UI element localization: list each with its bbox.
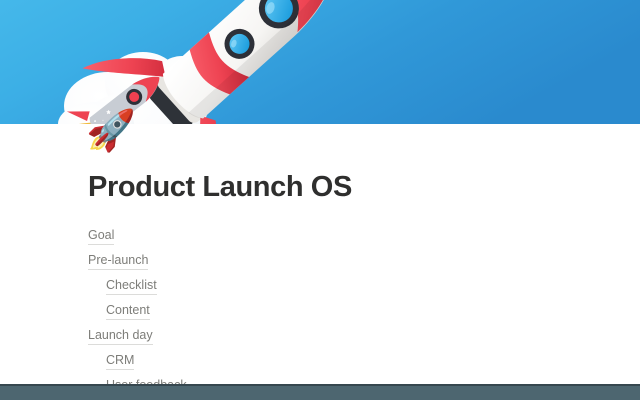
toc-item-launch-day-crm[interactable]: CRM bbox=[88, 351, 640, 366]
page-cover-banner[interactable] bbox=[0, 0, 640, 124]
rocket-emoji-icon[interactable]: 🚀 bbox=[86, 108, 132, 154]
toc-item-launch-day[interactable]: Launch day bbox=[88, 326, 640, 341]
toc-link[interactable]: CRM bbox=[106, 353, 134, 370]
page-title[interactable]: Product Launch OS bbox=[88, 170, 640, 204]
toc-link[interactable]: Launch day bbox=[88, 328, 153, 345]
toc-item-goal[interactable]: Goal bbox=[88, 226, 640, 241]
toc-link[interactable]: Goal bbox=[88, 228, 114, 245]
toc-link[interactable]: Content bbox=[106, 303, 150, 320]
page-content: Product Launch OS Goal Pre-launch Checkl… bbox=[0, 124, 640, 400]
toc-item-pre-launch-content[interactable]: Content bbox=[88, 301, 640, 316]
toc-item-pre-launch-checklist[interactable]: Checklist bbox=[88, 276, 640, 291]
toc-item-pre-launch[interactable]: Pre-launch bbox=[88, 251, 640, 266]
table-of-contents: Goal Pre-launch Checklist Content Launch… bbox=[88, 226, 640, 400]
rocket-launch-illustration bbox=[0, 0, 640, 124]
window-bottom-bar bbox=[0, 384, 640, 400]
toc-link[interactable]: Pre-launch bbox=[88, 253, 148, 270]
toc-link[interactable]: Checklist bbox=[106, 278, 157, 295]
